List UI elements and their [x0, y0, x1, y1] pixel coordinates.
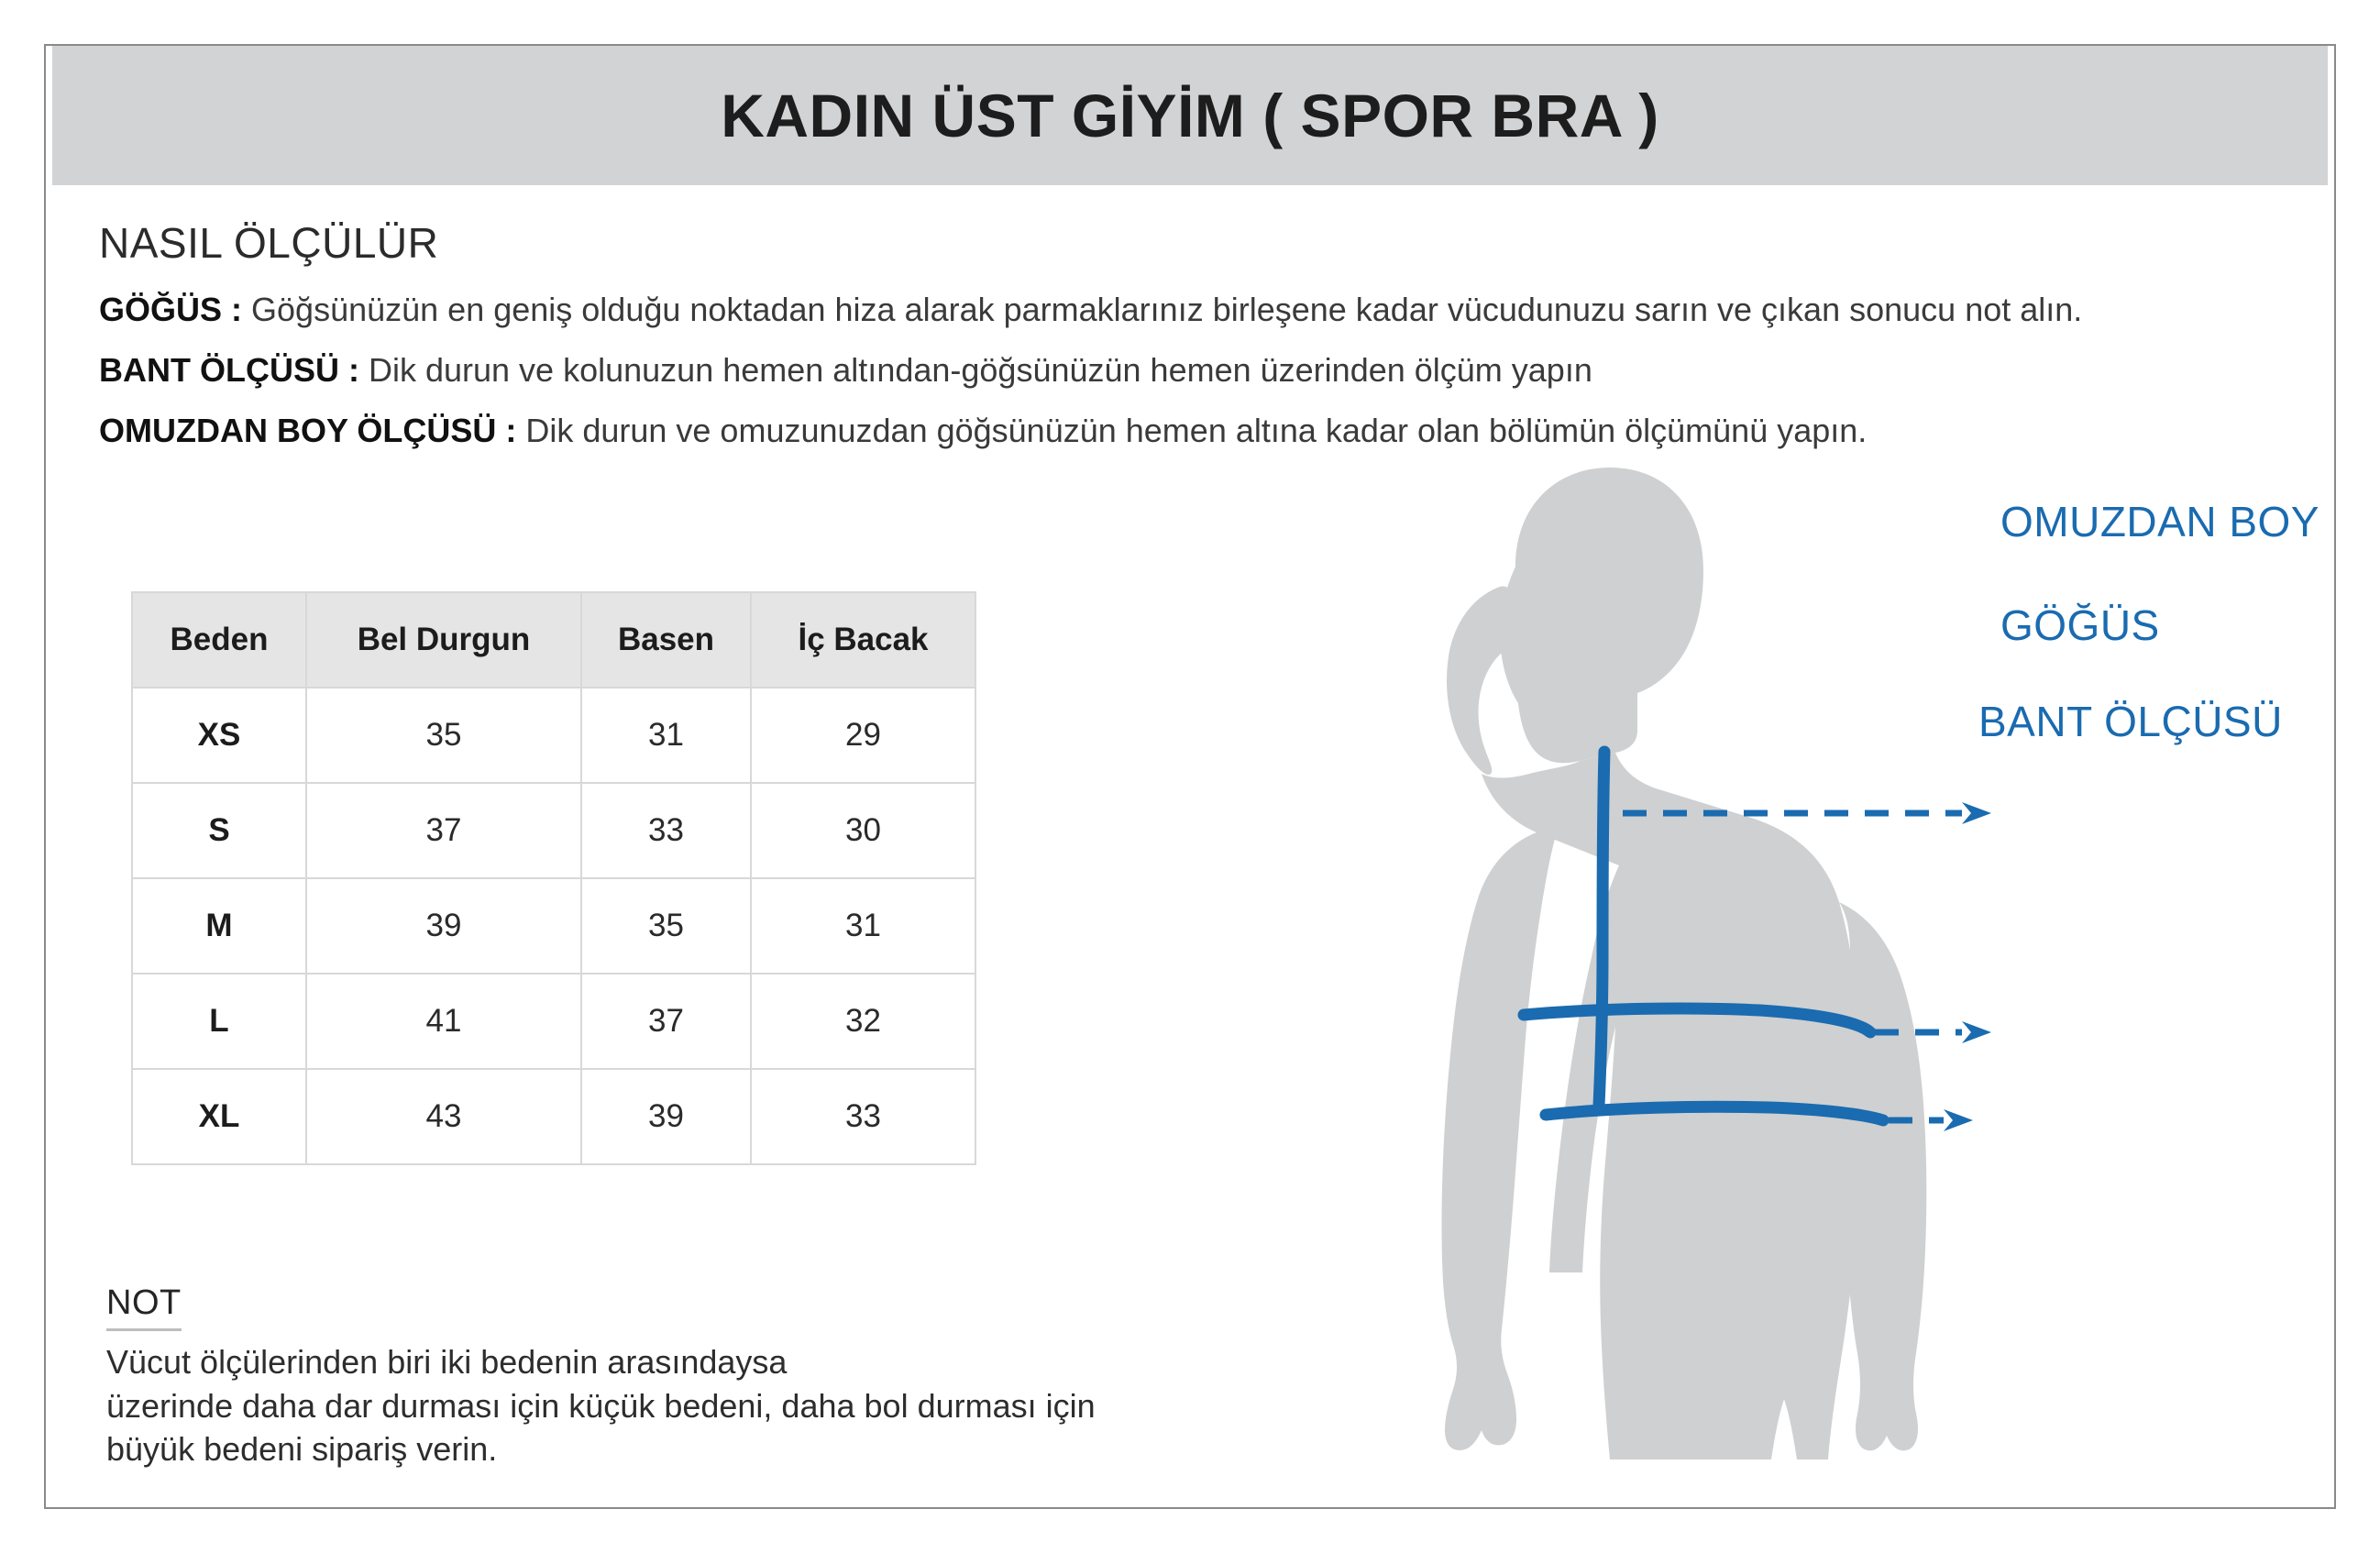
column-header-beden: Beden — [132, 592, 306, 688]
instruction-omuzdan-boy-label: OMUZDAN BOY ÖLÇÜSÜ : — [99, 412, 516, 449]
table-row: L 41 37 32 — [132, 974, 975, 1069]
instruction-omuzdan-boy: OMUZDAN BOY ÖLÇÜSÜ : Dik durun ve omuzun… — [99, 414, 2208, 447]
instruction-bant-olcusu-label: BANT ÖLÇÜSÜ : — [99, 351, 359, 389]
measurement-figure: OMUZDAN BOY GÖĞÜS BANT ÖLÇÜSÜ — [1320, 458, 2338, 1494]
callout-label-omuzdan-boy: OMUZDAN BOY — [2000, 497, 2319, 546]
table-row: XS 35 31 29 — [132, 688, 975, 783]
cell-bel: 41 — [306, 974, 581, 1069]
table-header-row: Beden Bel Durgun Basen İç Bacak — [132, 592, 975, 688]
callout-label-bant-olcusu: BANT ÖLÇÜSÜ — [1978, 697, 2283, 746]
callout-arrowheads-group — [1944, 802, 1991, 1131]
cell-beden: S — [132, 783, 306, 878]
note-title: NOT — [106, 1283, 182, 1331]
instruction-bant-olcusu-text: Dik durun ve kolunuzun hemen altından-gö… — [359, 351, 1592, 389]
column-header-ic-bacak: İç Bacak — [751, 592, 975, 688]
cell-beden: M — [132, 878, 306, 974]
arrowhead-bant-olcusu — [1944, 1109, 1973, 1131]
cell-basen: 33 — [581, 783, 751, 878]
arrowhead-omuzdan-boy — [1962, 802, 1991, 824]
page-title: KADIN ÜST GİYİM ( SPOR BRA ) — [721, 81, 1659, 150]
cell-ic-bacak: 30 — [751, 783, 975, 878]
cell-ic-bacak: 31 — [751, 878, 975, 974]
size-chart-page: KADIN ÜST GİYİM ( SPOR BRA ) NASIL ÖLÇÜL… — [0, 0, 2380, 1553]
note-line-2: üzerinde daha dar durması için küçük bed… — [106, 1384, 1344, 1428]
instruction-gogus-label: GÖĞÜS : — [99, 291, 242, 328]
note-body: Vücut ölçülerinden biri iki bedenin aras… — [106, 1340, 1344, 1471]
size-table-container: Beden Bel Durgun Basen İç Bacak XS 35 31… — [131, 591, 976, 1165]
column-header-bel: Bel Durgun — [306, 592, 581, 688]
cell-ic-bacak: 33 — [751, 1069, 975, 1164]
instruction-omuzdan-boy-text: Dik durun ve omuzunuzdan göğsünüzün heme… — [516, 412, 1867, 449]
how-to-measure-heading: NASIL ÖLÇÜLÜR — [99, 218, 2208, 268]
callout-label-gogus: GÖĞÜS — [2000, 600, 2160, 650]
instruction-gogus-text: Göğsünüzün en geniş olduğu noktadan hiza… — [242, 291, 2082, 328]
shoulder-length-line — [1599, 752, 1604, 1106]
body-silhouette-svg — [1320, 458, 2338, 1494]
cell-bel: 35 — [306, 688, 581, 783]
instruction-bant-olcusu: BANT ÖLÇÜSÜ : Dik durun ve kolunuzun hem… — [99, 354, 2208, 387]
cell-basen: 35 — [581, 878, 751, 974]
cell-ic-bacak: 32 — [751, 974, 975, 1069]
note-section: NOT Vücut ölçülerinden biri iki bedenin … — [106, 1283, 1344, 1471]
cell-basen: 39 — [581, 1069, 751, 1164]
size-table: Beden Bel Durgun Basen İç Bacak XS 35 31… — [131, 591, 976, 1165]
header-band: KADIN ÜST GİYİM ( SPOR BRA ) — [52, 46, 2328, 185]
cell-bel: 39 — [306, 878, 581, 974]
cell-basen: 31 — [581, 688, 751, 783]
cell-beden: XL — [132, 1069, 306, 1164]
column-header-basen: Basen — [581, 592, 751, 688]
table-row: XL 43 39 33 — [132, 1069, 975, 1164]
instruction-gogus: GÖĞÜS : Göğsünüzün en geniş olduğu nokta… — [99, 293, 2208, 326]
cell-beden: XS — [132, 688, 306, 783]
instructions-section: NASIL ÖLÇÜLÜR GÖĞÜS : Göğsünüzün en geni… — [99, 218, 2208, 475]
cell-bel: 43 — [306, 1069, 581, 1164]
table-row: S 37 33 30 — [132, 783, 975, 878]
female-silhouette-icon — [1442, 468, 1927, 1459]
note-line-1: Vücut ölçülerinden biri iki bedenin aras… — [106, 1340, 1344, 1384]
cell-ic-bacak: 29 — [751, 688, 975, 783]
arrowhead-gogus — [1962, 1021, 1991, 1043]
cell-bel: 37 — [306, 783, 581, 878]
note-line-3: büyük bedeni sipariş verin. — [106, 1427, 1344, 1471]
cell-basen: 37 — [581, 974, 751, 1069]
cell-beden: L — [132, 974, 306, 1069]
table-row: M 39 35 31 — [132, 878, 975, 974]
